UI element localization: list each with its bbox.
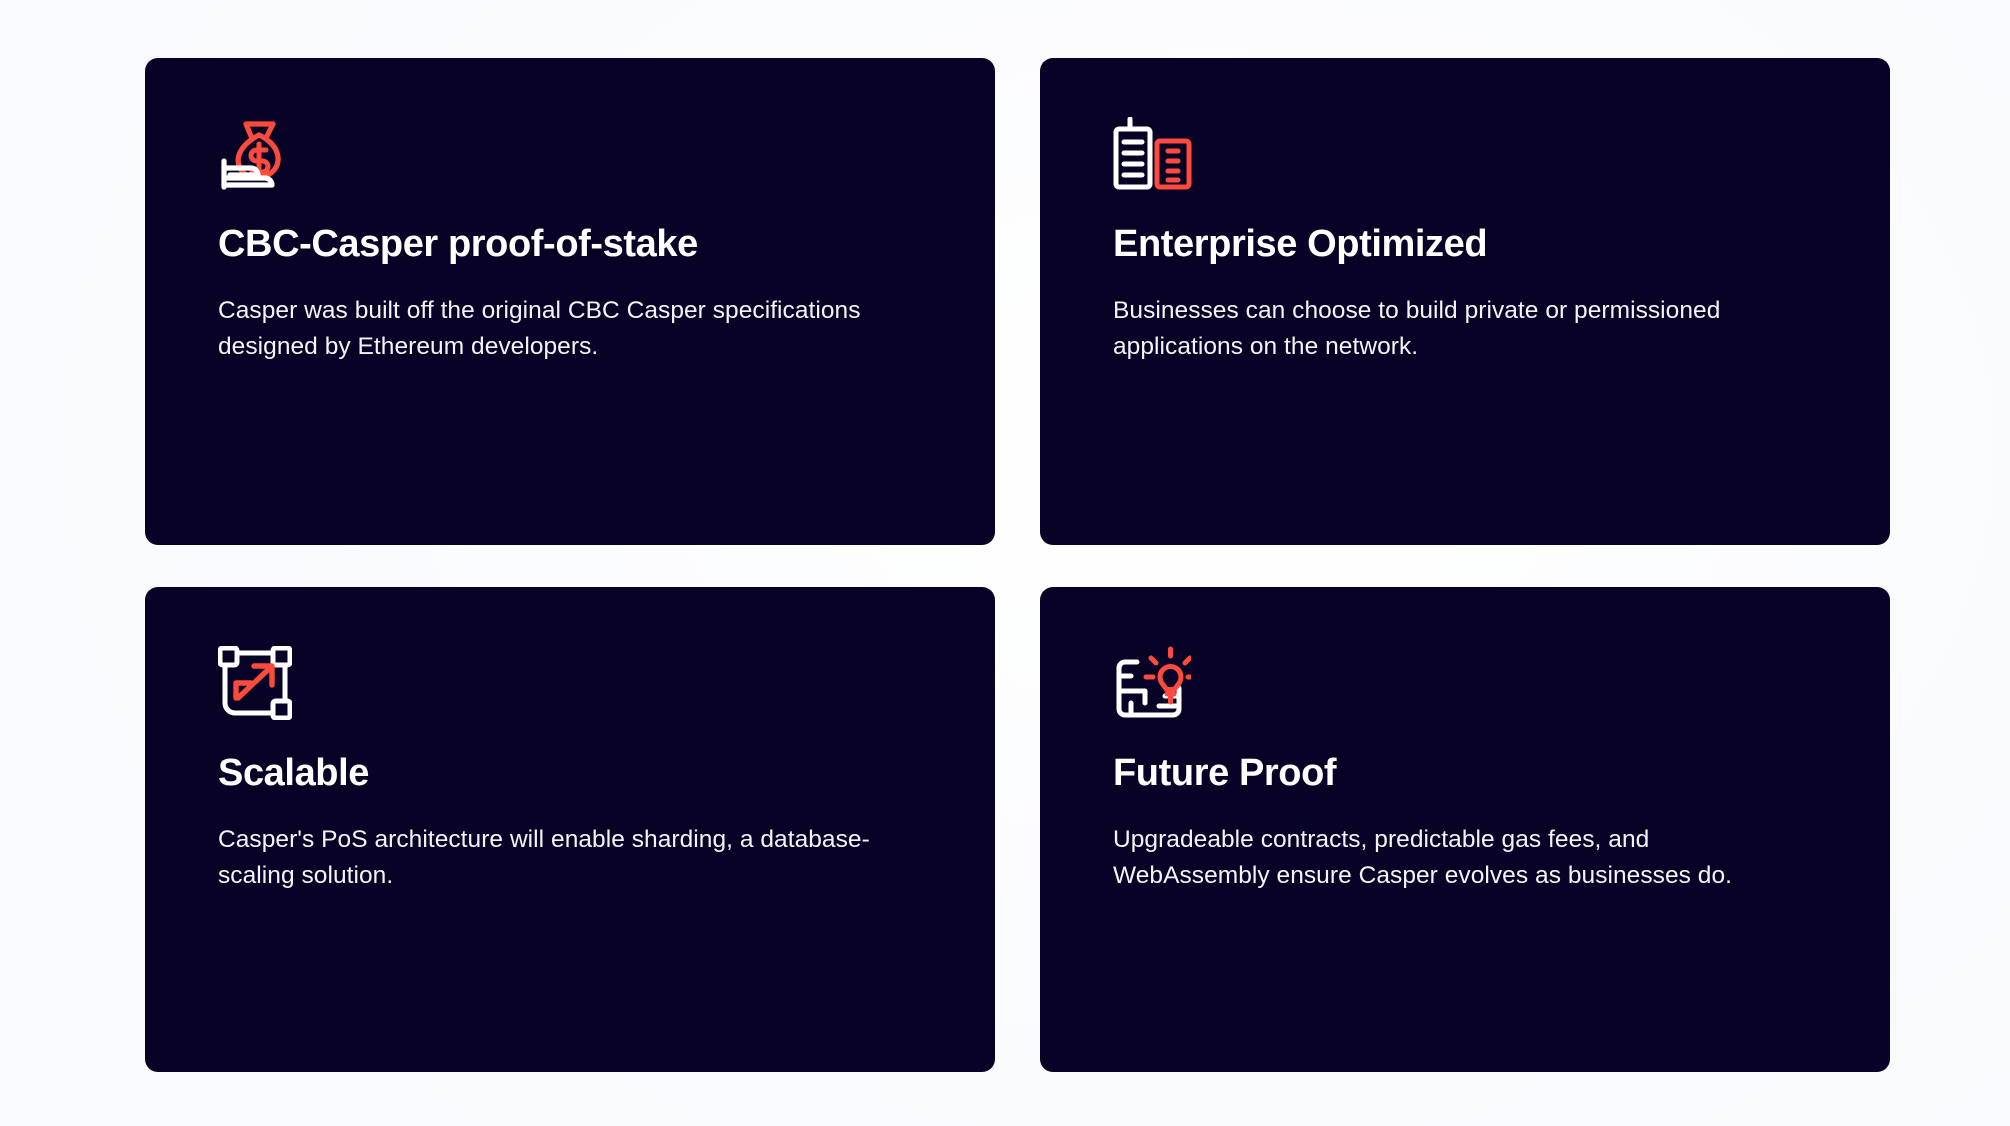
feature-card-title: Enterprise Optimized [1113,225,1817,265]
feature-card-description: Upgradeable contracts, predictable gas f… [1113,822,1773,894]
feature-card-description: Businesses can choose to build private o… [1113,293,1773,365]
lightbulb-circuit-icon [1113,642,1817,720]
feature-card-title: Scalable [218,754,922,794]
feature-card-scalable[interactable]: Scalable Casper's PoS architecture will … [145,587,995,1072]
feature-card-title: CBC-Casper proof-of-stake [218,225,922,265]
feature-card-enterprise-optimized[interactable]: Enterprise Optimized Businesses can choo… [1040,58,1890,545]
feature-card-description: Casper was built off the original CBC Ca… [218,293,878,365]
money-bag-on-hand-icon [218,113,922,191]
feature-card-description: Casper's PoS architecture will enable sh… [218,822,878,894]
office-buildings-icon [1113,113,1817,191]
feature-card-cbc-casper[interactable]: CBC-Casper proof-of-stake Casper was bui… [145,58,995,545]
feature-card-future-proof[interactable]: Future Proof Upgradeable contracts, pred… [1040,587,1890,1072]
feature-card-title: Future Proof [1113,754,1817,794]
feature-cards-page: CBC-Casper proof-of-stake Casper was bui… [0,0,2010,1126]
scale-expand-arrow-icon [218,642,922,720]
feature-card-grid: CBC-Casper proof-of-stake Casper was bui… [145,58,1890,1072]
